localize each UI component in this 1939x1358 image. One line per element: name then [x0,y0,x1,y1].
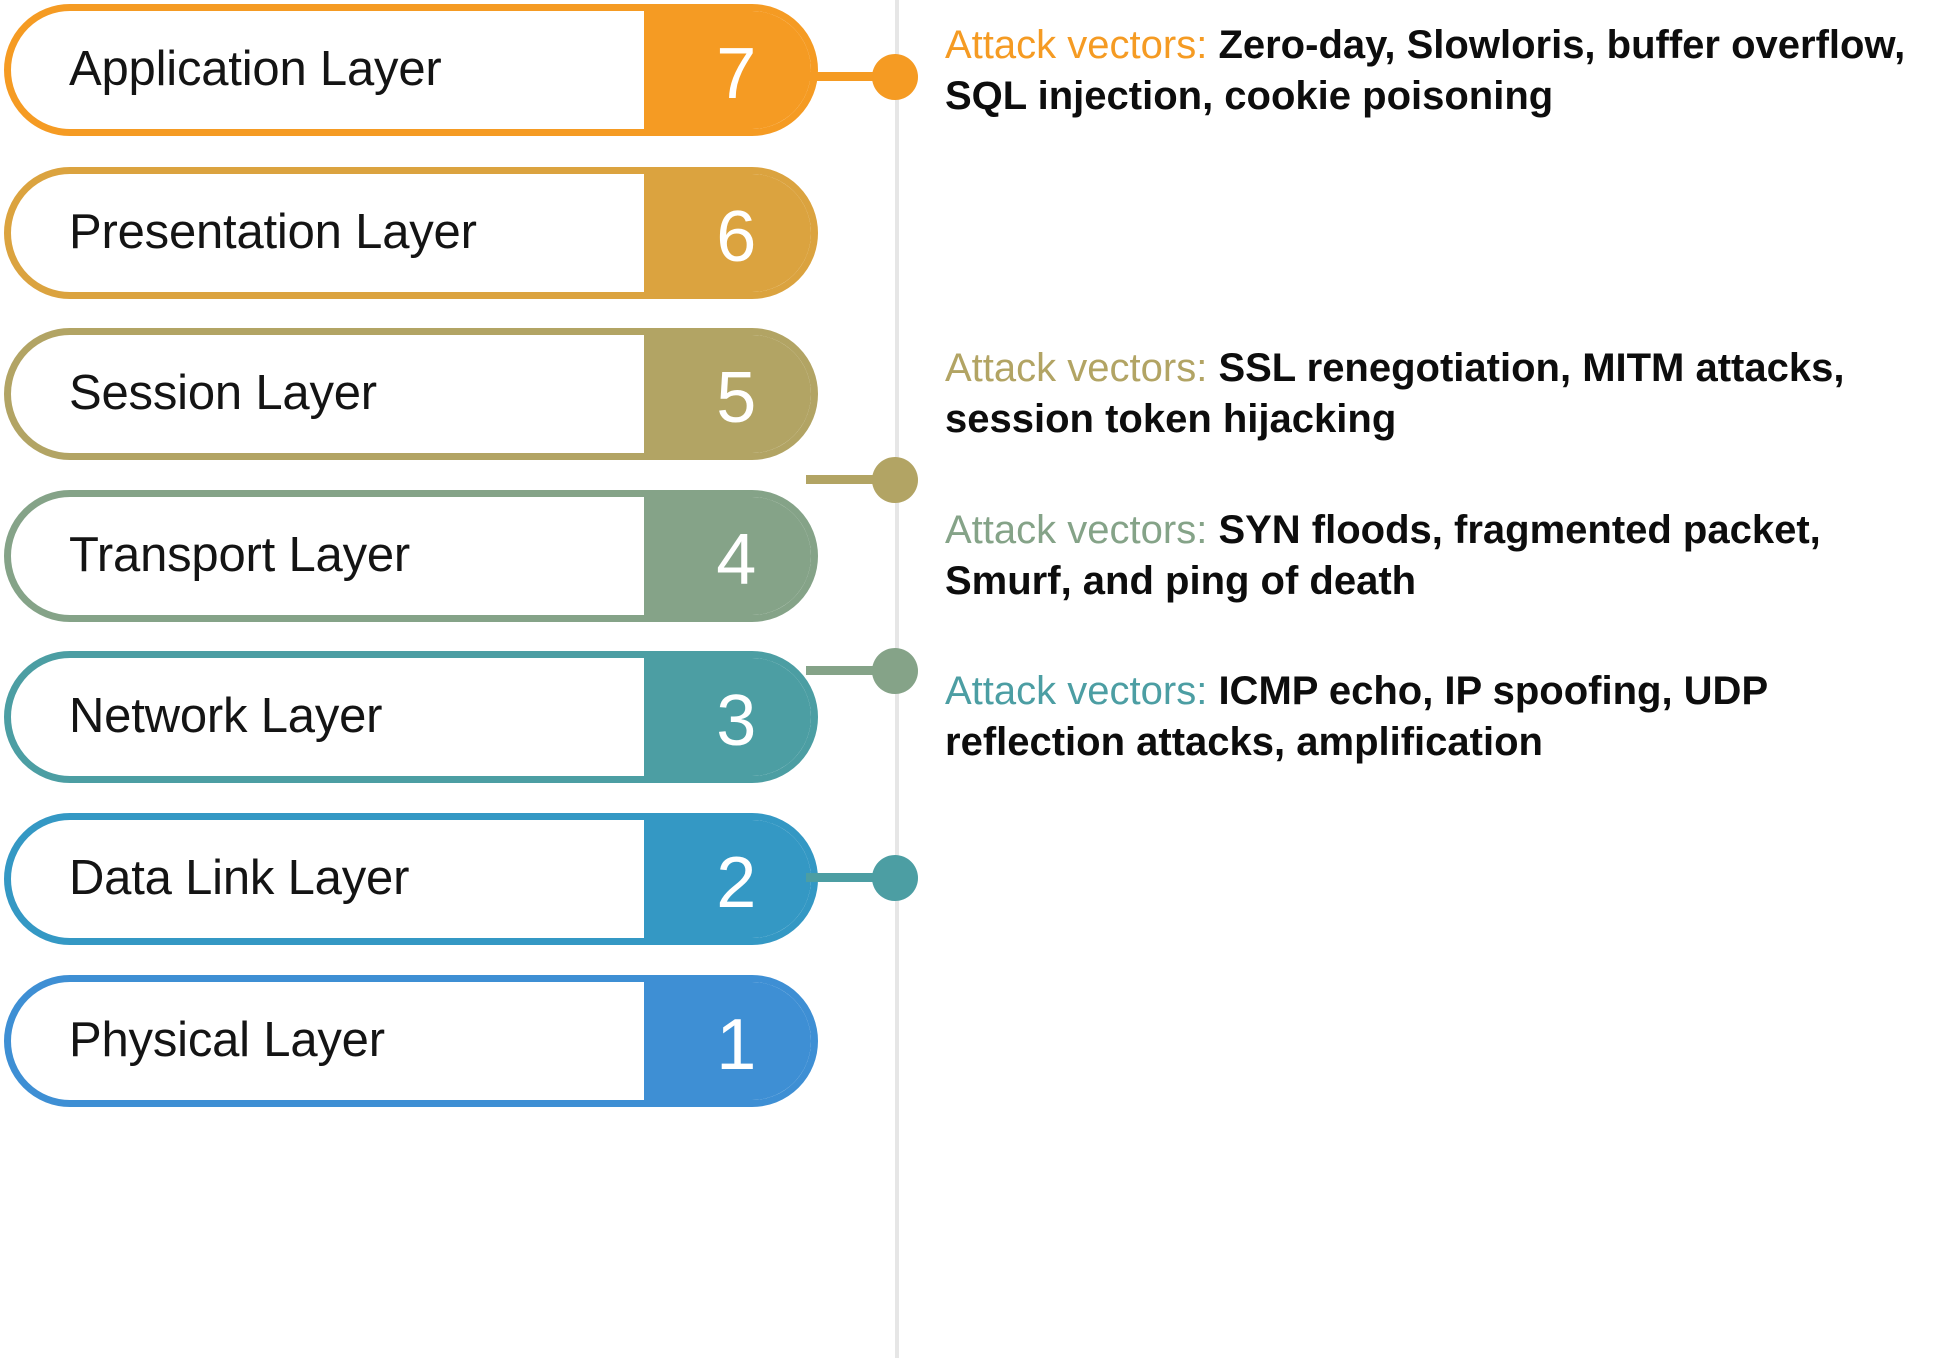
layer-number-text: 3 [716,685,757,757]
layer-number-text: 7 [716,38,757,110]
annotation-lead-label: Attack vectors: [945,669,1207,713]
layer-name-label: Network Layer [69,688,382,744]
connector-dot [872,457,918,503]
layer-number-text: 4 [716,524,757,596]
layer-number-text: 2 [716,847,757,919]
layer-row[interactable]: Presentation Layer6 [0,167,1939,299]
layer-name-label: Session Layer [69,365,377,421]
layer-row[interactable]: Physical Layer1 [0,975,1939,1107]
attack-vectors-annotation: Attack vectors: Zero-day, Slowloris, buf… [945,20,1935,122]
layer-number-badge: 6 [644,174,818,299]
annotation-lead-label: Attack vectors: [945,508,1207,552]
layer-pill[interactable]: Physical Layer1 [4,975,818,1107]
attack-vectors-annotation: Attack vectors: ICMP echo, IP spoofing, … [945,666,1935,768]
layer-pill[interactable]: Presentation Layer6 [4,167,818,299]
layer-number-text: 6 [716,201,757,273]
layer-pill[interactable]: Session Layer5 [4,328,818,460]
layer-pill[interactable]: Transport Layer4 [4,490,818,622]
layer-row[interactable]: Data Link Layer2 [0,813,1939,945]
layer-pill[interactable]: Application Layer7 [4,4,818,136]
layer-name-label: Presentation Layer [69,204,477,260]
layer-number-badge: 1 [644,982,818,1107]
connector-dot [872,855,918,901]
layer-pill[interactable]: Network Layer3 [4,651,818,783]
layer-name-label: Transport Layer [69,527,410,583]
layer-name-label: Data Link Layer [69,850,409,906]
annotation-lead-label: Attack vectors: [945,346,1207,390]
layer-number-badge: 2 [644,820,818,945]
layer-number-text: 1 [716,1009,757,1081]
layer-pill[interactable]: Data Link Layer2 [4,813,818,945]
layer-number-text: 5 [716,362,757,434]
connector-dot [872,54,918,100]
layer-number-badge: 4 [644,497,818,622]
layer-name-label: Application Layer [69,41,442,97]
connector-dot [872,648,918,694]
layer-number-badge: 7 [644,11,818,136]
layer-number-badge: 3 [644,658,818,783]
layer-number-badge: 5 [644,335,818,460]
osi-layer-diagram: Application Layer7Presentation Layer6Ses… [0,0,1939,1358]
attack-vectors-annotation: Attack vectors: SSL renegotiation, MITM … [945,343,1935,445]
attack-vectors-annotation: Attack vectors: SYN floods, fragmented p… [945,505,1935,607]
layer-name-label: Physical Layer [69,1012,385,1068]
annotation-lead-label: Attack vectors: [945,23,1207,67]
